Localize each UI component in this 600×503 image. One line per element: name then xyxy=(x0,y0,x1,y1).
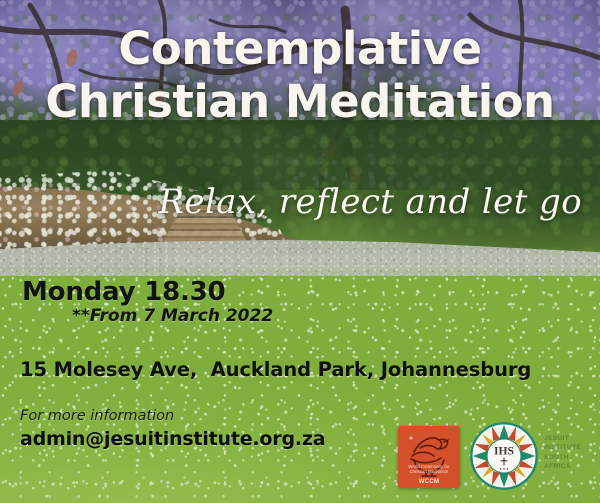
wccm-logo-acronym: WCCM xyxy=(398,479,460,485)
logo-row: World Community for Christian Meditation… xyxy=(398,422,598,497)
jesuit-institute-wordmark: JESUIT INSTITUTE SOUTH AFRICA xyxy=(544,434,581,472)
ihs-monogram: IHS xyxy=(494,445,514,458)
page-title: Contemplative Christian Meditation xyxy=(0,26,600,125)
wccm-logo: World Community for Christian Meditation… xyxy=(398,426,460,488)
wccm-logo-subtitle: World Community for Christian Meditation xyxy=(398,464,460,475)
contact-email[interactable]: admin@jesuitinstitute.org.za xyxy=(20,428,325,450)
jesuit-institute-line-4: AFRICA xyxy=(544,462,581,471)
venue-address: 15 Molesey Ave, Auckland Park, Johannesb… xyxy=(20,358,531,381)
wccm-logo-line-2: Christian Meditation xyxy=(398,469,460,474)
schedule-time: Monday 18.30 xyxy=(22,277,225,307)
schedule-start-note: **From 7 March 2022 xyxy=(72,306,273,326)
poster-content: Contemplative Christian Meditation Relax… xyxy=(0,0,600,503)
tagline: Relax, reflect and let go xyxy=(158,182,582,222)
meditation-poster: Contemplative Christian Meditation Relax… xyxy=(0,0,600,503)
title-line-2: Christian Meditation xyxy=(0,79,600,125)
ihs-nails xyxy=(500,468,508,469)
jesuit-institute-line-2: INSTITUTE xyxy=(544,443,581,452)
jesuit-institute-line-1: JESUIT xyxy=(544,434,581,443)
ihs-sunburst-logo: IHS xyxy=(470,422,538,490)
jesuit-institute-line-3: SOUTH xyxy=(544,453,581,462)
contact-label: For more information xyxy=(20,408,174,424)
title-line-1: Contemplative xyxy=(0,26,600,72)
